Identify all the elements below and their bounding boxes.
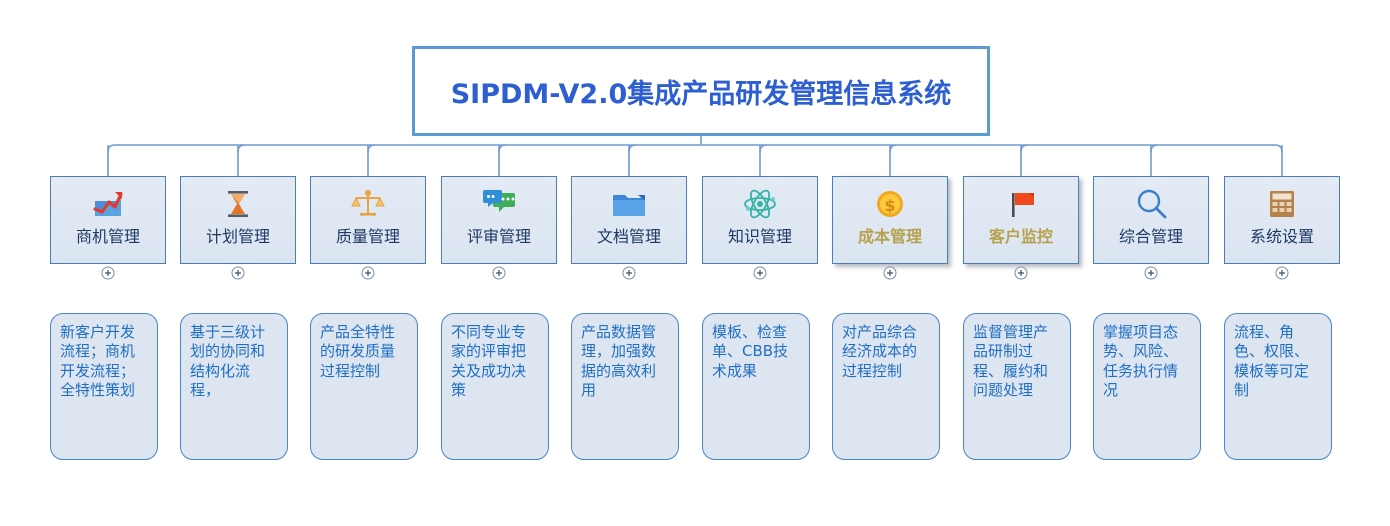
node-label: 评审管理 [467, 229, 531, 245]
description-box: 不同专业专家的评审把关及成功决策 [441, 313, 549, 460]
node-label: 客户监控 [989, 229, 1053, 245]
node-label: 计划管理 [206, 229, 270, 245]
node-label: 质量管理 [336, 229, 400, 245]
chart-up-icon [51, 181, 165, 227]
description-box: 基于三级计划的协同和结构化流程， [180, 313, 288, 460]
node-5[interactable]: 文档管理 [571, 176, 687, 264]
description-box: 监督管理产品研制过程、履约和问题处理 [963, 313, 1071, 460]
description-box: 对产品综合经济成本的过程控制 [832, 313, 940, 460]
node-10[interactable]: 系统设置 [1224, 176, 1340, 264]
chat-bubbles-icon [442, 181, 556, 227]
description-box: 产品数据管理，加强数据的高效利用 [571, 313, 679, 460]
atom-icon [703, 181, 817, 227]
node-6[interactable]: 知识管理 [702, 176, 818, 264]
expand-plus-icon[interactable] [1224, 264, 1340, 282]
page-title: SIPDM-V2.0集成产品研发管理信息系统 [451, 72, 952, 111]
node-7[interactable]: $成本管理 [832, 176, 948, 264]
expand-plus-icon[interactable] [180, 264, 296, 282]
node-3[interactable]: 质量管理 [310, 176, 426, 264]
scales-icon [311, 181, 425, 227]
node-2[interactable]: 计划管理 [180, 176, 296, 264]
system-title-box: SIPDM-V2.0集成产品研发管理信息系统 [412, 46, 990, 136]
node-label: 文档管理 [597, 229, 661, 245]
node-4[interactable]: 评审管理 [441, 176, 557, 264]
node-label: 系统设置 [1250, 229, 1314, 245]
expand-plus-icon[interactable] [571, 264, 687, 282]
expand-plus-icon[interactable] [963, 264, 1079, 282]
node-label: 综合管理 [1119, 229, 1183, 245]
hourglass-icon [181, 181, 295, 227]
node-1[interactable]: 商机管理 [50, 176, 166, 264]
expand-plus-icon[interactable] [702, 264, 818, 282]
node-8[interactable]: 客户监控 [963, 176, 1079, 264]
node-label: 知识管理 [728, 229, 792, 245]
description-box: 新客户开发流程；商机开发流程；全特性策划 [50, 313, 158, 460]
expand-plus-icon[interactable] [310, 264, 426, 282]
expand-plus-icon[interactable] [441, 264, 557, 282]
svg-text:$: $ [884, 196, 895, 215]
description-box: 产品全特性的研发质量过程控制 [310, 313, 418, 460]
folder-icon [572, 181, 686, 227]
description-box: 掌握项目态势、风险、任务执行情况 [1093, 313, 1201, 460]
node-label: 商机管理 [76, 229, 140, 245]
magnifier-icon [1094, 181, 1208, 227]
red-flag-icon [964, 181, 1078, 227]
diagram-canvas: SIPDM-V2.0集成产品研发管理信息系统 商机管理新客户开发流程；商机开发流… [0, 0, 1390, 526]
expand-plus-icon[interactable] [1093, 264, 1209, 282]
expand-plus-icon[interactable] [832, 264, 948, 282]
expand-plus-icon[interactable] [50, 264, 166, 282]
node-9[interactable]: 综合管理 [1093, 176, 1209, 264]
description-box: 模板、检查单、CBB技术成果 [702, 313, 810, 460]
description-box: 流程、角色、权限、模板等可定制 [1224, 313, 1332, 460]
node-label: 成本管理 [858, 229, 922, 245]
coin-dollar-icon: $ [833, 181, 947, 227]
calculator-icon [1225, 181, 1339, 227]
